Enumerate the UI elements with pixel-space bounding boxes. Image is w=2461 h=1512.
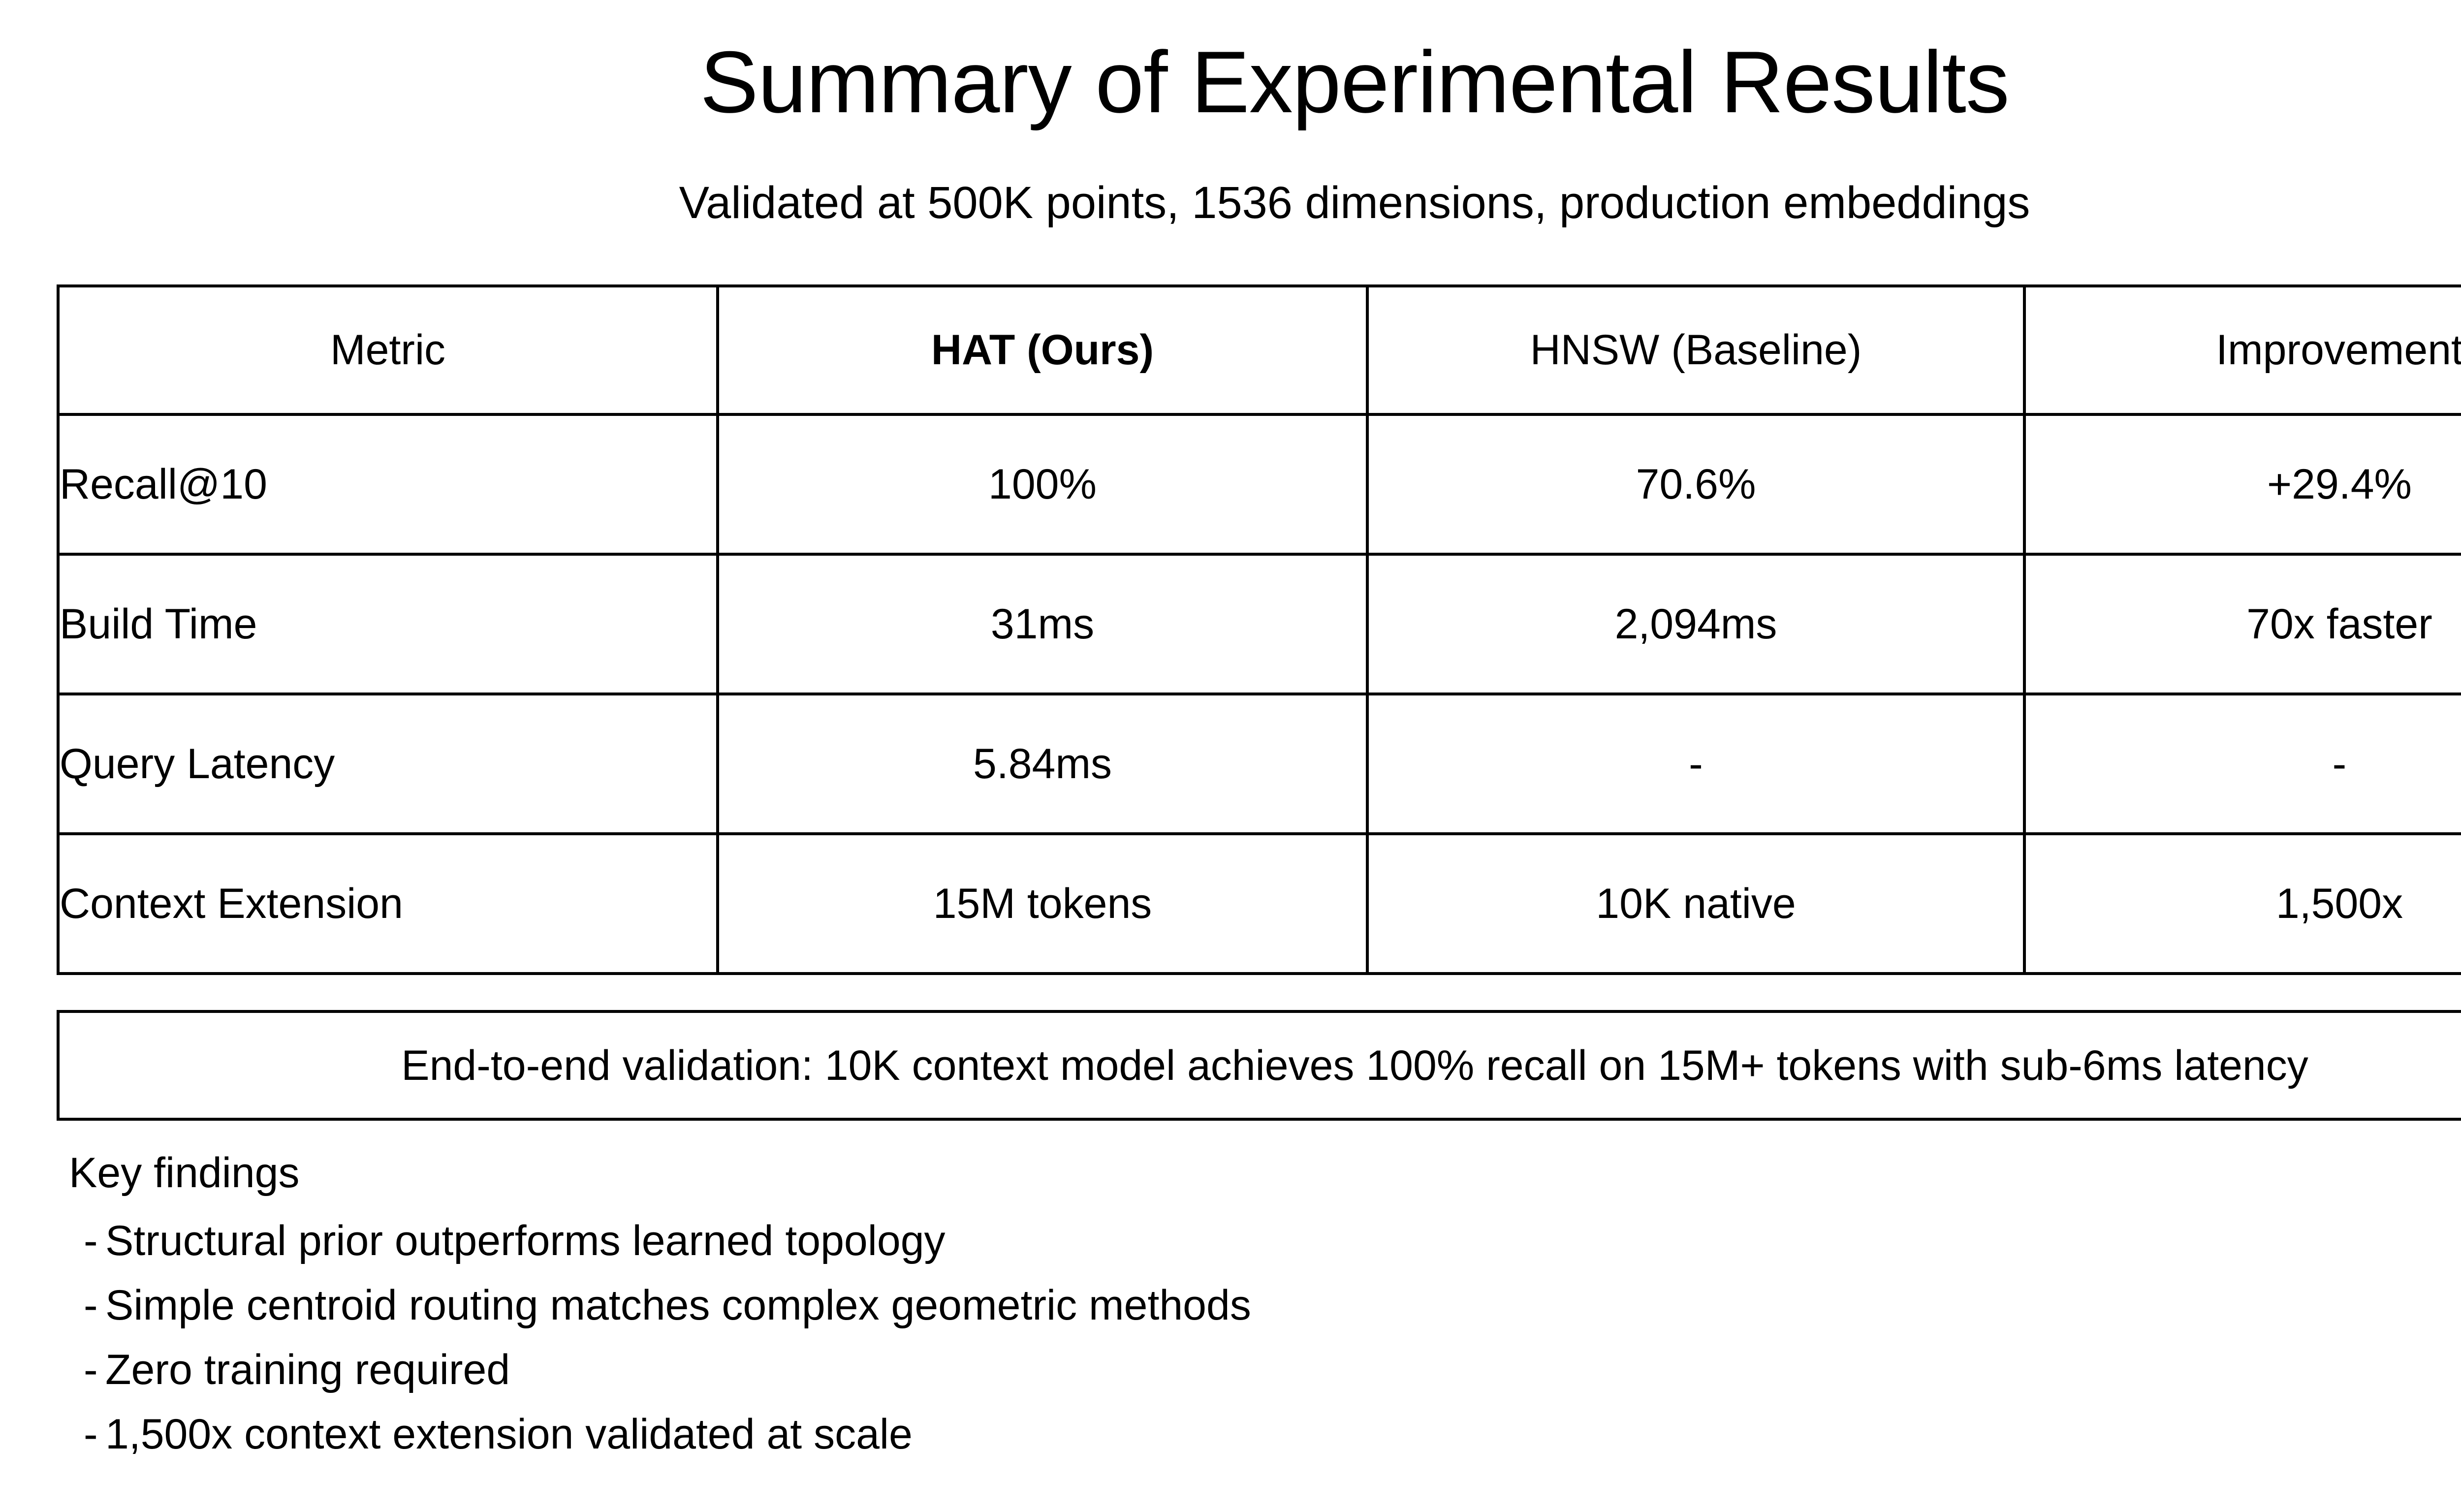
key-findings-section: Key findings -Structural prior outperfor… xyxy=(69,1152,2431,1478)
table-row: Recall@10 100% 70.6% +29.4% xyxy=(58,414,2461,554)
page-title: Summary of Experimental Results xyxy=(0,38,2461,126)
validation-callout-text: End-to-end validation: 10K context model… xyxy=(401,1044,2308,1087)
list-item: -Structural prior outperforms learned to… xyxy=(69,1220,2431,1262)
table-row: Query Latency 5.84ms - - xyxy=(58,694,2461,834)
cell-hat: 5.84ms xyxy=(718,694,1367,834)
table-row: Build Time 31ms 2,094ms 70x faster xyxy=(58,554,2461,694)
bullet-dash-icon: - xyxy=(84,1284,105,1326)
cell-improvement: +29.4% xyxy=(2024,414,2461,554)
cell-hnsw: 70.6% xyxy=(1367,414,2024,554)
column-header-hat: HAT (Ours) xyxy=(718,286,1367,414)
cell-hnsw: 10K native xyxy=(1367,834,2024,974)
column-header-hnsw: HNSW (Baseline) xyxy=(1367,286,2024,414)
cell-hat: 31ms xyxy=(718,554,1367,694)
cell-metric: Build Time xyxy=(58,554,718,694)
bullet-dash-icon: - xyxy=(84,1220,105,1262)
list-item-label: Zero training required xyxy=(105,1346,510,1393)
list-item: -Zero training required xyxy=(69,1349,2431,1391)
cell-hat: 15M tokens xyxy=(718,834,1367,974)
list-item-label: Structural prior outperforms learned top… xyxy=(105,1217,946,1264)
table-body: Recall@10 100% 70.6% +29.4% Build Time 3… xyxy=(58,414,2461,974)
list-item-label: Simple centroid routing matches complex … xyxy=(105,1282,1251,1329)
list-item: -1,500x context extension validated at s… xyxy=(69,1413,2431,1455)
cell-metric: Recall@10 xyxy=(58,414,718,554)
table-header-row: Metric HAT (Ours) HNSW (Baseline) Improv… xyxy=(58,286,2461,414)
results-table: Metric HAT (Ours) HNSW (Baseline) Improv… xyxy=(57,284,2461,975)
key-findings-title: Key findings xyxy=(69,1152,2431,1194)
column-header-metric: Metric xyxy=(58,286,718,414)
cell-improvement: - xyxy=(2024,694,2461,834)
cell-improvement: 70x faster xyxy=(2024,554,2461,694)
key-findings-list: -Structural prior outperforms learned to… xyxy=(69,1220,2431,1455)
list-item-label: 1,500x context extension validated at sc… xyxy=(105,1411,913,1458)
cell-metric: Query Latency xyxy=(58,694,718,834)
table-header: Metric HAT (Ours) HNSW (Baseline) Improv… xyxy=(58,286,2461,414)
validation-callout: End-to-end validation: 10K context model… xyxy=(57,1010,2461,1121)
list-item: -Simple centroid routing matches complex… xyxy=(69,1284,2431,1326)
cell-hnsw: 2,094ms xyxy=(1367,554,2024,694)
slide-root: Summary of Experimental Results Validate… xyxy=(0,0,2461,1512)
page-subtitle: Validated at 500K points, 1536 dimension… xyxy=(0,180,2461,225)
cell-hnsw: - xyxy=(1367,694,2024,834)
cell-metric: Context Extension xyxy=(58,834,718,974)
cell-hat: 100% xyxy=(718,414,1367,554)
bullet-dash-icon: - xyxy=(84,1413,105,1455)
column-header-improvement: Improvement xyxy=(2024,286,2461,414)
table-row: Context Extension 15M tokens 10K native … xyxy=(58,834,2461,974)
cell-improvement: 1,500x xyxy=(2024,834,2461,974)
bullet-dash-icon: - xyxy=(84,1349,105,1391)
